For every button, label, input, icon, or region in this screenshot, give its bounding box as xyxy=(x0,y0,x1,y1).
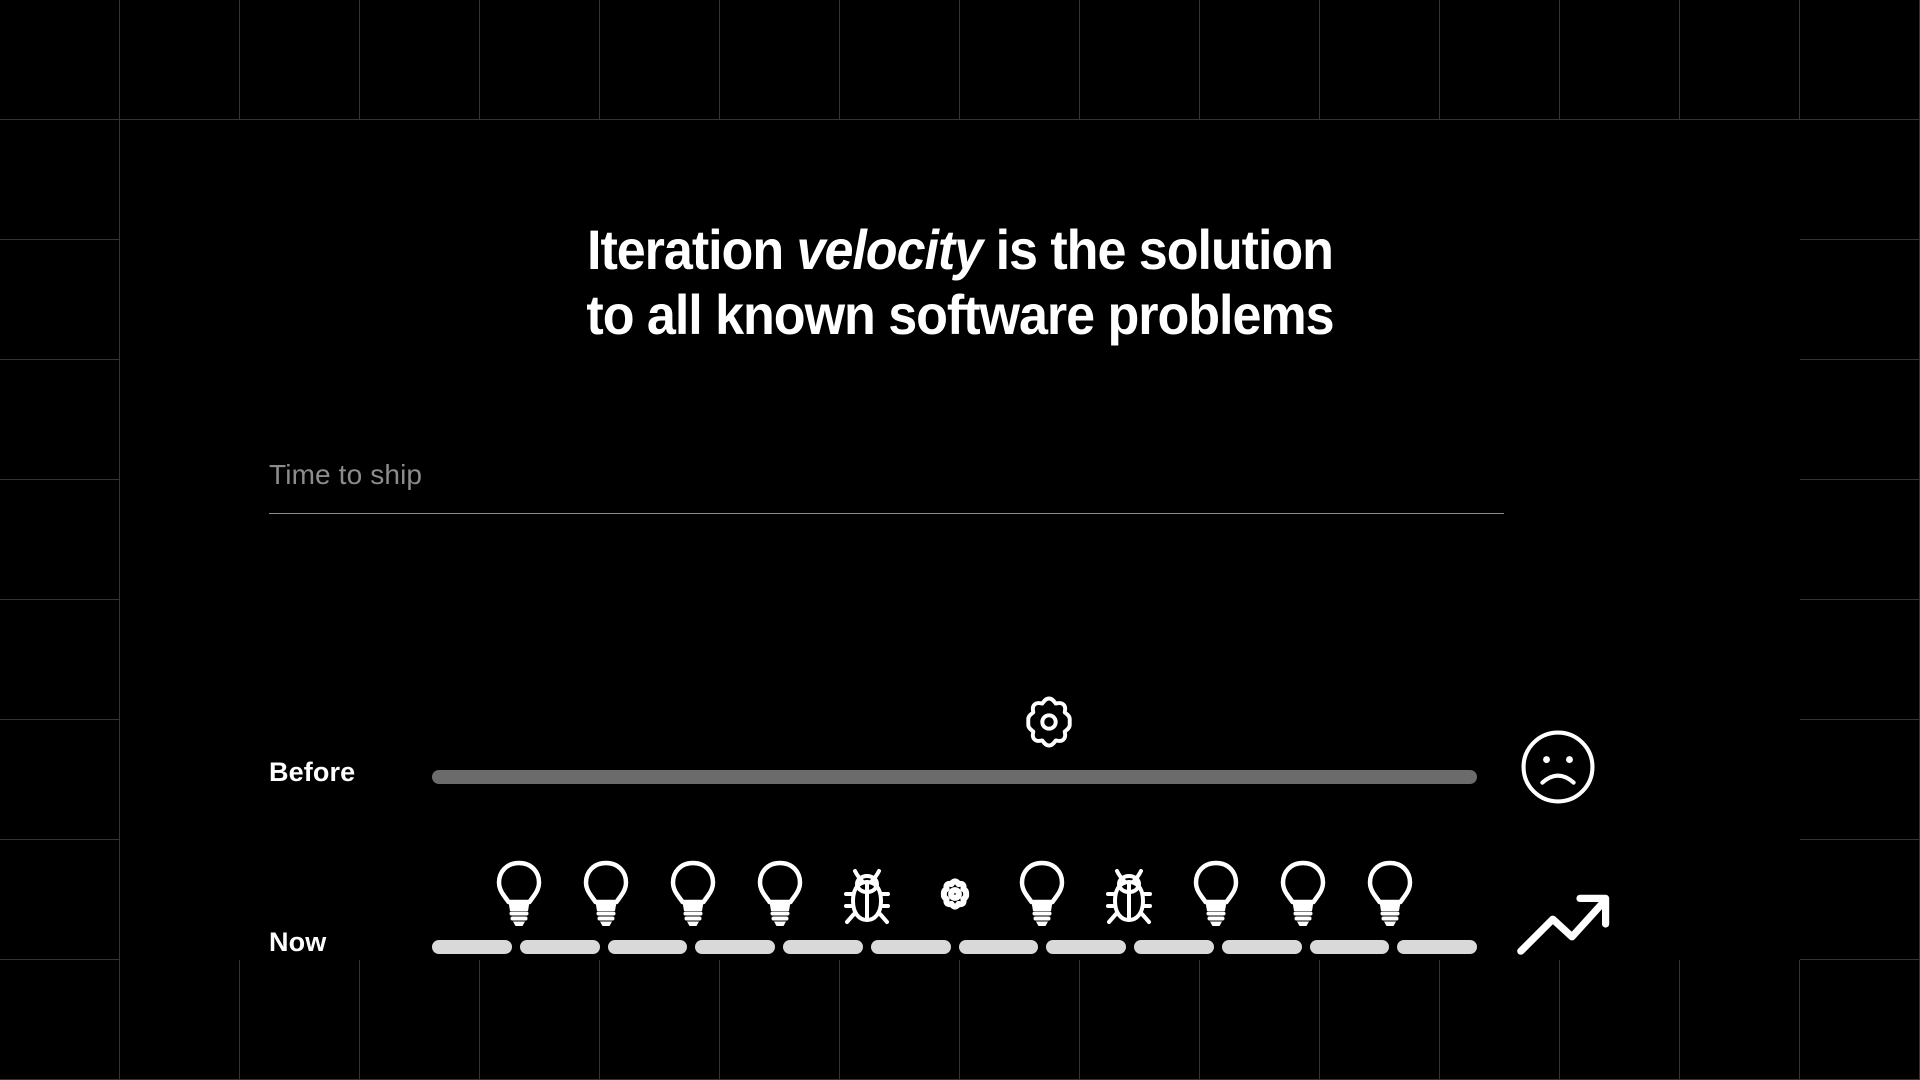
now-bar-segment xyxy=(695,940,775,954)
row-label-now: Now xyxy=(269,927,326,958)
bug-icon xyxy=(1103,858,1155,928)
now-bar-segment xyxy=(432,940,512,954)
lightbulb-icon xyxy=(1364,858,1416,928)
lightbulb-icon xyxy=(1016,858,1068,928)
headline-emphasis: velocity xyxy=(797,218,983,281)
now-row-track xyxy=(432,770,1477,960)
gear-icon xyxy=(929,858,981,928)
page-title: Iteration velocity is the solutionto all… xyxy=(179,218,1741,348)
sad-face-icon xyxy=(1517,726,1599,808)
now-bar-segment xyxy=(1397,940,1477,954)
slide-canvas: Iteration velocity is the solutionto all… xyxy=(0,0,1920,1080)
section-label: Time to ship xyxy=(269,459,422,491)
bug-icon xyxy=(841,858,893,928)
now-bar-segment xyxy=(783,940,863,954)
trending-up-icon xyxy=(1516,884,1612,956)
section-divider xyxy=(269,513,1504,514)
lightbulb-icon xyxy=(1277,858,1329,928)
now-bar-segment xyxy=(959,940,1039,954)
lightbulb-icon xyxy=(493,858,545,928)
now-bar-segment xyxy=(871,940,951,954)
now-bar-segment xyxy=(1222,940,1302,954)
now-bar-segment xyxy=(520,940,600,954)
lightbulb-icon xyxy=(580,858,632,928)
row-label-before: Before xyxy=(269,757,355,788)
now-progress-bar xyxy=(432,940,1477,954)
lightbulb-icon xyxy=(754,858,806,928)
content-panel: Iteration velocity is the solutionto all… xyxy=(120,120,1800,960)
now-bar-segment xyxy=(1046,940,1126,954)
headline-part-1: Iteration xyxy=(587,218,797,281)
gear-icon xyxy=(1021,694,1077,750)
now-bar-segment xyxy=(1310,940,1390,954)
headline-part-2: is the solution xyxy=(982,218,1333,281)
now-bar-segment xyxy=(1134,940,1214,954)
now-icon-strip xyxy=(432,858,1477,928)
lightbulb-icon xyxy=(1190,858,1242,928)
headline-line-2: to all known software problems xyxy=(586,283,1333,346)
lightbulb-icon xyxy=(667,858,719,928)
now-bar-segment xyxy=(608,940,688,954)
